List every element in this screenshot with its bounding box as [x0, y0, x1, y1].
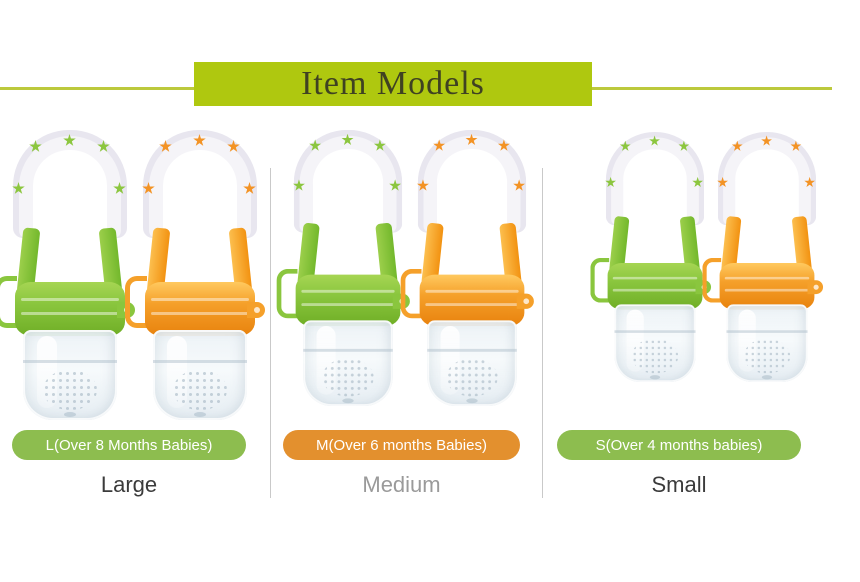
bulb-band — [23, 360, 117, 363]
mesh-texture — [43, 370, 97, 410]
collar-tab — [808, 280, 824, 294]
mesh-bulb — [726, 304, 807, 382]
product-pair — [0, 130, 270, 430]
collar-groove — [301, 290, 394, 293]
mesh-bulb — [614, 304, 695, 382]
product-column-small — [544, 130, 860, 470]
bulb-vent — [342, 398, 353, 403]
product-image-medium-orange[interactable] — [407, 130, 531, 406]
mesh-texture — [446, 358, 497, 396]
product-image-small-orange[interactable] — [702, 130, 814, 382]
collar-tab — [517, 294, 534, 309]
bulb-vent — [64, 412, 76, 417]
product-column-medium — [272, 130, 542, 470]
mesh-texture — [322, 358, 373, 396]
status-badge-medium: M(Over 6 months Babies) — [283, 430, 520, 460]
size-badges: L(Over 8 Months Babies) M(Over 6 months … — [0, 430, 860, 470]
bulb-vent — [650, 375, 660, 379]
collar-ring — [608, 263, 703, 310]
mesh-texture — [632, 339, 679, 373]
collar-tab — [247, 302, 265, 318]
status-badge-large: L(Over 8 Months Babies) — [12, 430, 246, 460]
bulb-band — [303, 349, 392, 352]
page-header: Item Models — [0, 0, 860, 130]
product-pair — [544, 130, 860, 430]
caption-small: Small — [557, 472, 801, 498]
handle-ring — [418, 130, 527, 233]
collar-ring — [720, 263, 815, 310]
bulb-vent — [466, 398, 477, 403]
bulb-band — [726, 330, 807, 333]
mesh-bulb — [427, 320, 516, 406]
bulb-vent — [194, 412, 206, 417]
collar-groove — [613, 289, 697, 292]
page-title: Item Models — [301, 67, 485, 101]
collar-ring — [296, 275, 401, 326]
title-banner: Item Models — [194, 62, 592, 106]
collar-groove — [613, 277, 697, 280]
collar-groove — [425, 303, 518, 306]
side-clip — [702, 258, 721, 303]
collar-ring — [420, 275, 525, 326]
mesh-texture — [173, 370, 227, 410]
collar-groove — [425, 290, 518, 293]
product-grid — [0, 130, 860, 470]
bulb-vent — [762, 375, 772, 379]
side-clip — [590, 258, 609, 303]
collar-groove — [725, 277, 809, 280]
bulb-band — [614, 330, 695, 333]
handle-ring — [143, 130, 257, 238]
caption-medium: Medium — [283, 472, 520, 498]
handle-ring — [294, 130, 403, 233]
collar-groove — [151, 298, 249, 301]
side-clip — [277, 269, 298, 319]
mesh-bulb — [23, 330, 117, 420]
side-clip — [125, 276, 147, 328]
collar-groove — [151, 312, 249, 315]
product-pair — [272, 130, 542, 430]
product-image-large-orange[interactable] — [135, 130, 265, 420]
side-clip — [401, 269, 422, 319]
caption-large: Large — [12, 472, 246, 498]
handle-ring — [13, 130, 127, 238]
product-image-large-green[interactable] — [5, 130, 135, 420]
product-column-large — [0, 130, 270, 470]
mesh-texture — [744, 339, 791, 373]
product-image-medium-green[interactable] — [283, 130, 407, 406]
product-image-small-green[interactable] — [590, 130, 702, 382]
handle-ring — [606, 132, 704, 225]
collar-groove — [725, 289, 809, 292]
mesh-bulb — [303, 320, 392, 406]
handle-ring — [718, 132, 816, 225]
size-captions: Large Medium Small — [0, 472, 860, 512]
mesh-bulb — [153, 330, 247, 420]
collar-ring — [145, 282, 255, 336]
collar-groove — [21, 312, 119, 315]
collar-groove — [301, 303, 394, 306]
collar-groove — [21, 298, 119, 301]
status-badge-small: S(Over 4 months babies) — [557, 430, 801, 460]
bulb-band — [153, 360, 247, 363]
collar-ring — [15, 282, 125, 336]
bulb-band — [427, 349, 516, 352]
